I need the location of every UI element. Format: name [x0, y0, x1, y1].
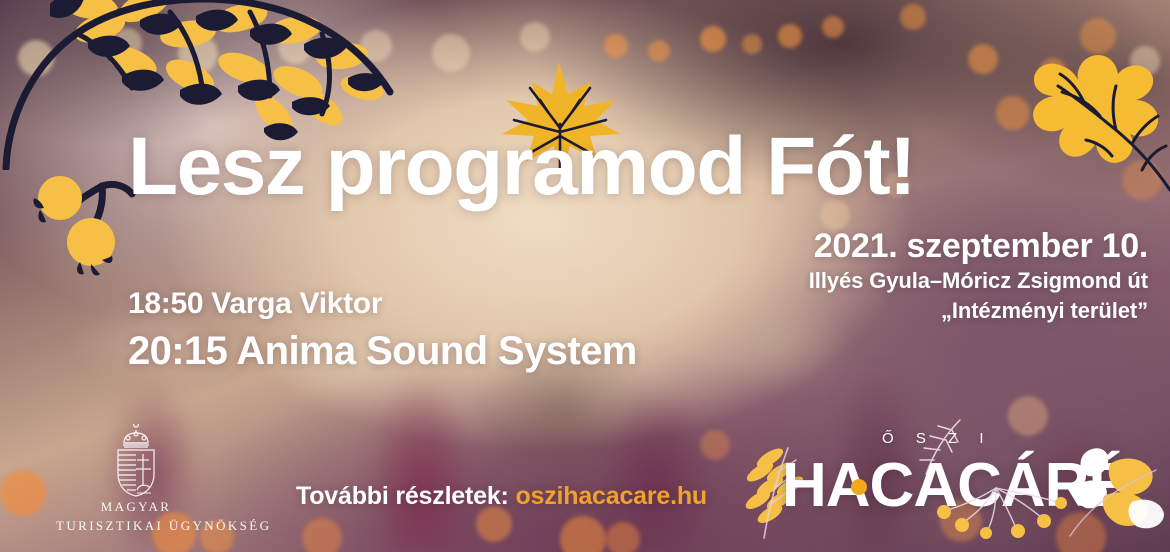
lineup-item-2: 20:15 Anima Sound System	[128, 326, 637, 376]
sponsor-name-line-1: MAGYAR	[56, 498, 216, 517]
berry-cluster-icon	[930, 486, 1070, 552]
event-poster: Lesz programod Fót! 2021. szeptember 10.…	[0, 0, 1170, 552]
website-link[interactable]: oszihacacare.hu	[515, 482, 707, 510]
berry-icon	[848, 476, 870, 498]
event-details: 2021. szeptember 10. Illyés Gyula–Móricz…	[809, 226, 1148, 325]
sponsor-logo: MAGYAR TURISZTIKAI ÜGYNÖKSÉG	[56, 424, 216, 536]
sponsor-name-line-2: TURISZTIKAI ÜGYNÖKSÉG	[56, 517, 216, 536]
leaf-cluster-icon	[1066, 444, 1166, 540]
festival-logo: Ő S Z I HACACÁRÉ	[752, 418, 1162, 552]
event-date: 2021. szeptember 10.	[809, 226, 1148, 266]
more-info-label: További részletek:	[296, 482, 509, 510]
event-area: „Intézményi terület”	[809, 296, 1148, 326]
event-street: Illyés Gyula–Móricz Zsigmond út	[809, 266, 1148, 296]
hungarian-coat-of-arms-icon	[104, 424, 168, 498]
lineup-item-1: 18:50 Varga Viktor	[128, 286, 637, 322]
more-info-line: További részletek: oszihacacare.hu	[296, 482, 707, 511]
page-title: Lesz programod Fót!	[128, 126, 915, 208]
lineup-list: 18:50 Varga Viktor 20:15 Anima Sound Sys…	[128, 286, 637, 376]
festival-logo-eyebrow: Ő S Z I	[882, 430, 993, 447]
